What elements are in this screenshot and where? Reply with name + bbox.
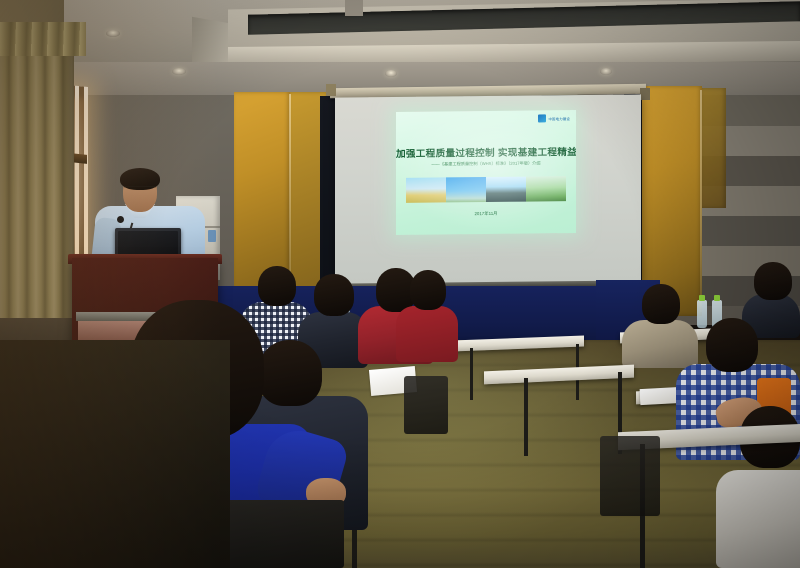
attendee-head (706, 318, 758, 372)
slide-title: 加强工程质量过程控制 实现基建工程精益管理 (396, 144, 576, 160)
attendee-red-shirt-right (396, 306, 458, 362)
projected-slide: 中国电力建设 加强工程质量过程控制 实现基建工程精益管理 ——《基建工程质量控制… (396, 110, 576, 235)
curtain (0, 28, 74, 358)
attendee-white-tshirt-right (716, 470, 800, 568)
laptop-screen (118, 231, 178, 256)
downlight-icon (600, 68, 612, 75)
panel-seam (700, 90, 702, 312)
chair-back (600, 436, 660, 516)
slide-logo: 中国电力建设 (538, 114, 570, 122)
slide-photo-hydro-dam (486, 177, 526, 202)
list-item (716, 436, 800, 568)
chair-back (404, 376, 448, 434)
downlight-icon (172, 68, 186, 75)
microphone-icon (117, 216, 124, 223)
screen-bracket-left (326, 84, 336, 96)
cabinet-label-icon (208, 230, 216, 242)
attendee-head (754, 262, 792, 300)
slide-photo-transmission-lines (526, 176, 566, 201)
list-item (396, 270, 458, 360)
slide-photo-blue-sky (446, 177, 486, 202)
screen-bracket-right (640, 88, 650, 100)
ceiling-beam (345, 0, 363, 16)
downlight-icon (106, 30, 120, 37)
curtain-valance (0, 22, 86, 56)
wall-panel-gold-right-2 (702, 88, 726, 208)
slide-photo-strip (406, 176, 566, 203)
slide-photo-wind-turbines (406, 177, 446, 202)
glasses-icon (124, 186, 156, 191)
meeting-room-photo: 中国电力建设 加强工程质量过程控制 实现基建工程精益管理 ——《基建工程质量控制… (0, 0, 800, 568)
slide-subtitle: ——《基建工程质量控制（WHS）标准》（2017年版）介绍 (396, 160, 576, 168)
attendee-head (314, 274, 354, 316)
table-leg (524, 378, 528, 456)
attendee-head (642, 284, 680, 324)
floor-shadow-left (0, 340, 230, 568)
attendee-head (410, 270, 446, 310)
company-logo-icon (538, 114, 546, 122)
slide-date: 2017年11月 (396, 210, 576, 218)
slide-logo-text: 中国电力建设 (548, 115, 570, 120)
downlight-icon (385, 70, 397, 77)
table-leg (470, 348, 473, 400)
